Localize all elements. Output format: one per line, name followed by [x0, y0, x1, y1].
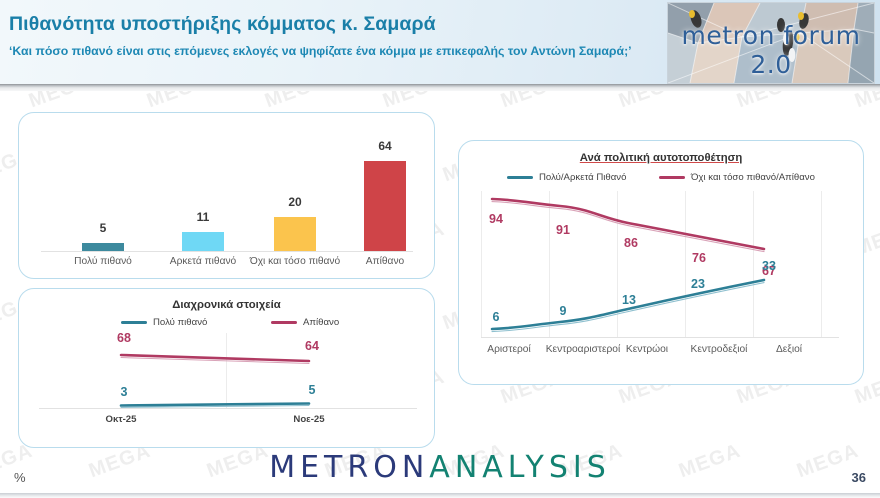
political-value-polu-4: 33	[754, 259, 784, 273]
metron-forum-logo: metron forum 2.0	[667, 2, 875, 84]
bar-category-1: Αρκετά πιθανό	[155, 256, 251, 267]
bar-value-0: 5	[73, 221, 133, 235]
bar-category-3: Απίθανο	[339, 256, 431, 267]
trend-lines	[19, 289, 434, 447]
bar-value-1: 11	[173, 210, 233, 224]
footer-brand-analysis: ANALYSIS	[429, 450, 610, 485]
metron-analysis-footer-logo: METRONANALYSIS	[0, 450, 880, 485]
slide: MEGAMEGAMEGAMEGAMEGAMEGAMEGAMEGAMEGAMEGA…	[0, 0, 880, 498]
bar-category-2: Όχι και τόσο πιθανό	[241, 256, 349, 267]
bar-3	[364, 161, 406, 251]
main-bar-chart-card: 5 Πολύ πιθανό 11 Αρκετά πιθανό 20 Όχι κα…	[18, 112, 435, 279]
political-value-polu-2: 13	[614, 293, 644, 307]
trend-category-1: Νοε-25	[279, 414, 339, 425]
bar-2	[274, 217, 316, 251]
political-value-oxi-0: 94	[481, 212, 511, 226]
bar-chart-baseline	[41, 251, 413, 252]
trend-value-polu-1: 5	[297, 383, 327, 397]
political-value-polu-3: 23	[683, 277, 713, 291]
political-value-polu-1: 9	[548, 304, 578, 318]
trend-category-0: Οκτ-25	[91, 414, 151, 425]
political-category-4: Δεξιοί	[747, 344, 831, 355]
political-value-polu-0: 6	[481, 310, 511, 324]
page-number: 36	[852, 470, 866, 485]
logo-wordmark: metron forum 2.0	[668, 21, 874, 79]
footer-brand-metron: METRON	[269, 450, 429, 485]
bar-1	[182, 232, 224, 251]
bar-value-2: 20	[265, 195, 325, 209]
political-value-oxi-1: 91	[548, 223, 578, 237]
bar-0	[82, 243, 124, 251]
bar-category-0: Πολύ πιθανό	[55, 256, 151, 267]
political-value-oxi-3: 76	[684, 251, 714, 265]
header-divider	[0, 84, 880, 91]
political-value-oxi-2: 86	[616, 236, 646, 250]
trend-value-polu-0: 3	[109, 385, 139, 399]
trend-value-apithano-0: 68	[109, 331, 139, 345]
page-subtitle: ‘Και πόσο πιθανό είναι στις επόμενες εκλ…	[9, 43, 634, 61]
trend-chart-card: Διαχρονικά στοιχεία Πολύ πιθανό Απίθανο …	[18, 288, 435, 448]
page-title: Πιθανότητα υποστήριξης κόμματος κ. Σαμαρ…	[9, 13, 436, 36]
trend-value-apithano-1: 64	[297, 339, 327, 353]
footer-divider	[0, 493, 880, 498]
political-chart-card: Ανά πολιτική αυτοτοποθέτηση Πολύ/Αρκετά …	[458, 140, 864, 385]
bar-value-3: 64	[355, 139, 415, 153]
